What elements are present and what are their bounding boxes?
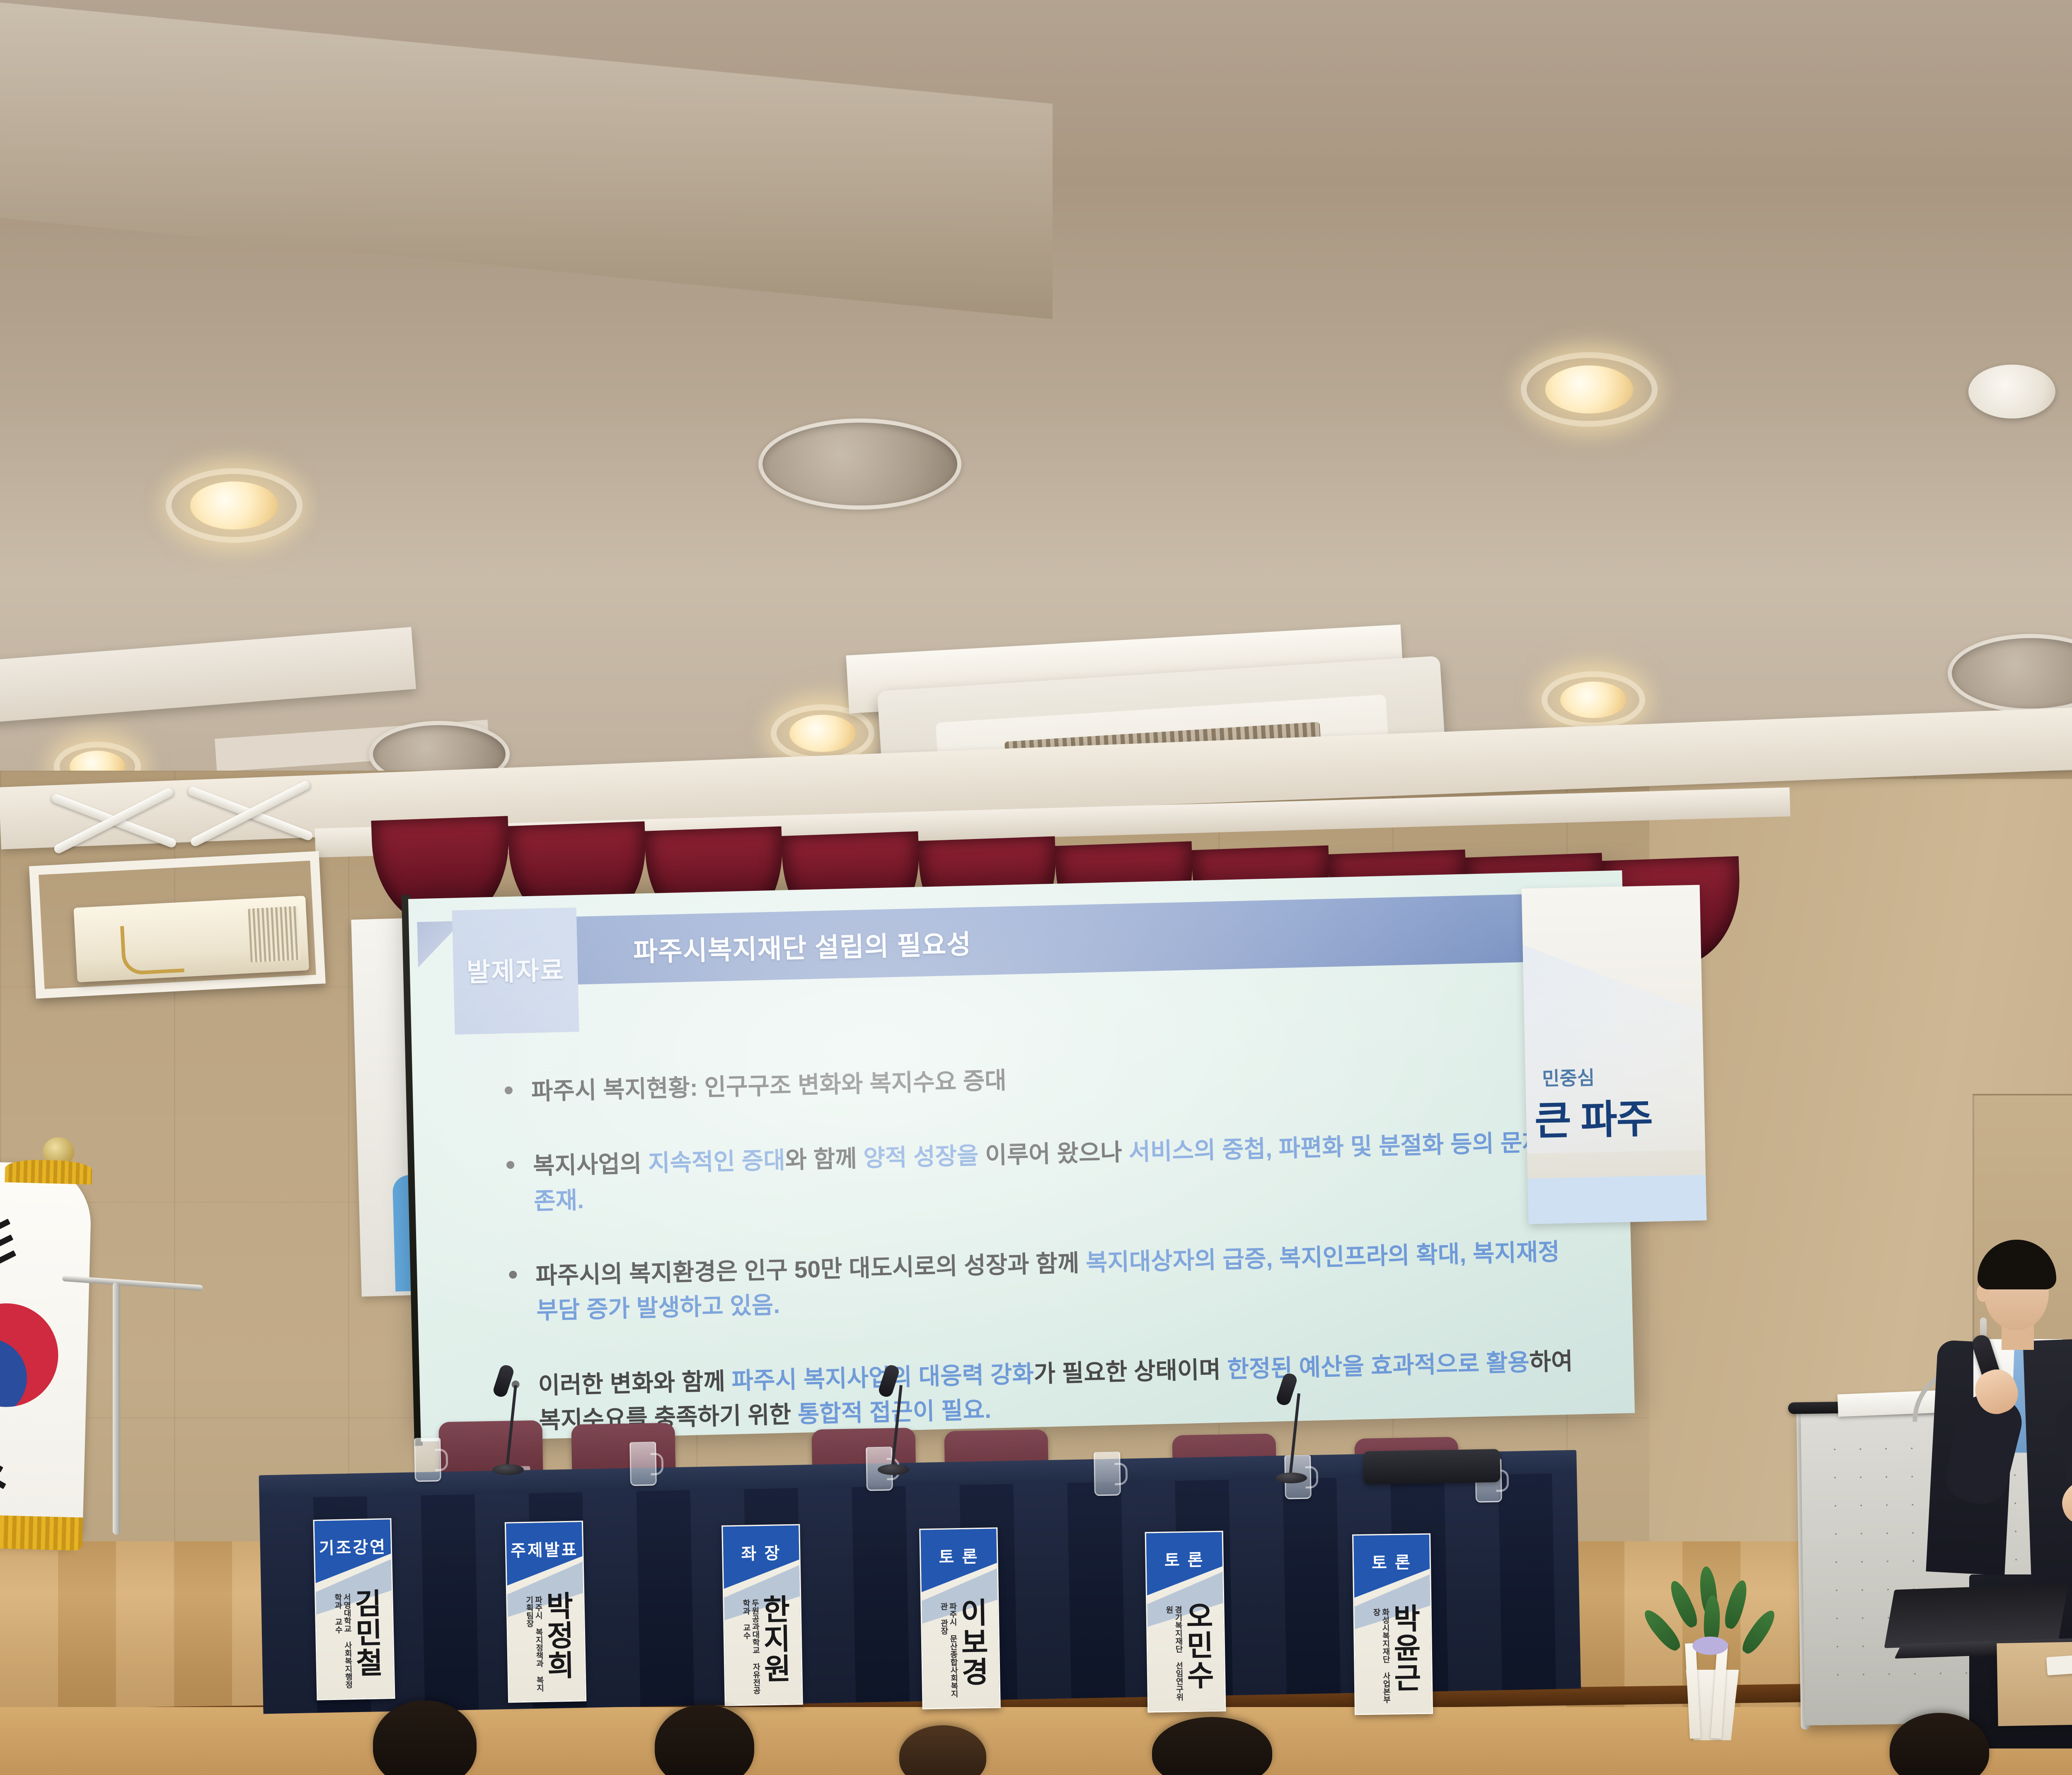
table-microphone[interactable] xyxy=(1272,1376,1310,1483)
projector-vent-icon xyxy=(248,906,300,962)
name-placard: 토 론오 민 수경기복지재단 선임연구위원 xyxy=(1145,1531,1226,1713)
placard-name: 박 윤 근 xyxy=(1389,1604,1426,1693)
downlight-icon xyxy=(1521,352,1658,427)
projector-body xyxy=(73,896,309,982)
placard-role-label: 토 론 xyxy=(921,1543,997,1568)
placard-name: 이 보 경 xyxy=(956,1598,993,1688)
projector-cable xyxy=(120,923,184,976)
placard-affiliation: 화성시복지재단 사업본부장 xyxy=(1358,1608,1390,1706)
placard-role-label: 토 론 xyxy=(1146,1546,1222,1572)
name-placard: 토 론박 윤 근화성시복지재단 사업본부장 xyxy=(1352,1533,1433,1715)
placard-affiliation: 파주시 문산종합사회복지관 관장 xyxy=(926,1602,958,1700)
banner-right-maintext: 큰 파주 xyxy=(1534,1086,1653,1146)
downlight-icon xyxy=(771,704,874,762)
stage-handrail xyxy=(62,1280,195,1545)
placard-role-label: 토 론 xyxy=(1353,1549,1430,1574)
placard-affiliation: 파주시 복지정책과 복지기획팀장 xyxy=(511,1596,544,1694)
water-glass xyxy=(414,1437,441,1482)
placard-name: 김 민 철 xyxy=(350,1589,387,1678)
name-placard: 기조강연김 민 철서영대학교 사회복지행정학과 교수 xyxy=(313,1518,395,1700)
banner-right-subtext: 민중심 xyxy=(1542,1063,1595,1091)
flag-fringe-top xyxy=(5,1159,92,1184)
placard-name: 오 민 수 xyxy=(1181,1602,1218,1691)
auditorium-scene-photo: 발제자료 파주시복지재단 설립의 필요성 파주시 복지현황: 인구구조 변화와 … xyxy=(0,0,2072,1775)
ceiling-projector xyxy=(21,845,369,1036)
taeguk-symbol-icon xyxy=(0,1302,60,1408)
water-glass xyxy=(629,1441,657,1486)
name-placard: 주제발표박 정 희파주시 복지정책과 복지기획팀장 xyxy=(505,1521,586,1703)
wall-banner-right: 민중심 큰 파주 xyxy=(1522,885,1707,1224)
side-table xyxy=(1997,1638,2072,1726)
projection-screen: 발제자료 파주시복지재단 설립의 필요성 파주시 복지현황: 인구구조 변화와 … xyxy=(408,871,1635,1442)
table-microphone[interactable] xyxy=(489,1367,526,1475)
smoke-detector-icon xyxy=(1968,365,2055,418)
ceiling-speaker-icon xyxy=(758,418,961,510)
laptop-bag xyxy=(1363,1449,1500,1485)
ribbon-bow-icon xyxy=(1692,1637,1728,1655)
placard-role-label: 기조강연 xyxy=(315,1533,391,1559)
table-microphone[interactable] xyxy=(874,1367,912,1475)
placard-role-label: 주제발표 xyxy=(506,1536,583,1562)
downlight-icon xyxy=(166,468,303,543)
placard-name: 한 지 원 xyxy=(758,1595,796,1685)
placard-role-label: 좌 장 xyxy=(723,1539,799,1565)
placard-affiliation: 두원공과대학교 자유전공학과 교수 xyxy=(728,1599,760,1697)
placard-name: 박 정 희 xyxy=(542,1592,579,1681)
placard-affiliation: 경기복지재단 선임연구위원 xyxy=(1151,1606,1184,1704)
downlight-icon xyxy=(1542,671,1645,728)
potted-plant xyxy=(1641,1550,1778,1740)
water-glass xyxy=(1094,1451,1121,1496)
name-placard: 토 론이 보 경파주시 문산종합사회복지관 관장 xyxy=(919,1527,1001,1709)
name-placard: 좌 장한 지 원두원공과대학교 자유전공학과 교수 xyxy=(721,1524,803,1706)
placard-affiliation: 서영대학교 사회복지행정학과 교수 xyxy=(320,1593,353,1691)
